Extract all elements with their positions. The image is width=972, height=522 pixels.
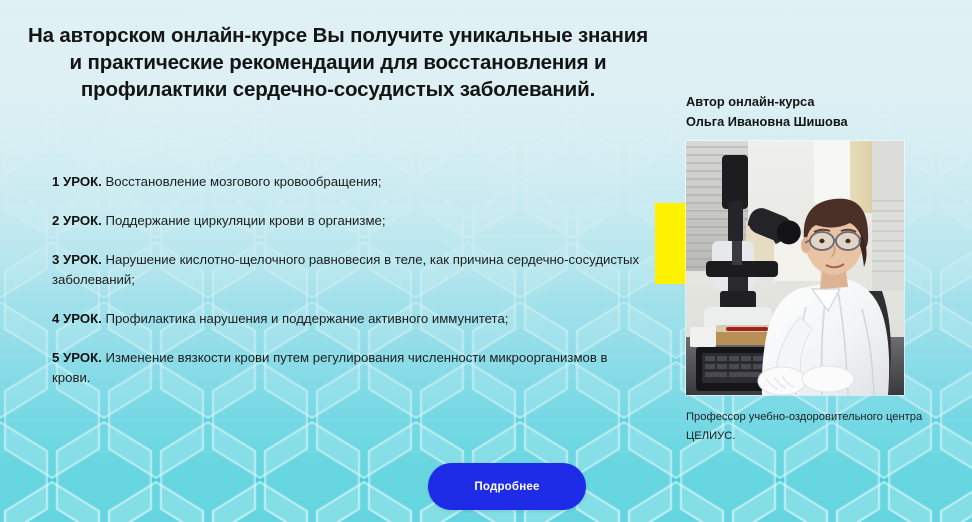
lesson-text: Изменение вязкости крови путем регулиров… [52, 350, 608, 385]
author-heading: Автор онлайн-курса Ольга Ивановна Шишова [686, 92, 946, 132]
lesson-text: Профилактика нарушения и поддержание акт… [102, 311, 509, 326]
lesson-number: 4 УРОК. [52, 311, 102, 326]
list-item: 5 УРОК. Изменение вязкости крови путем р… [52, 348, 642, 388]
list-item: 3 УРОК. Нарушение кислотно-щелочного рав… [52, 250, 642, 290]
list-item: 2 УРОК. Поддержание циркуляции крови в о… [52, 211, 642, 231]
list-item: 4 УРОК. Профилактика нарушения и поддерж… [52, 309, 642, 329]
author-name: Ольга Ивановна Шишова [686, 112, 946, 132]
lesson-text: Нарушение кислотно-щелочного равновесия … [52, 252, 639, 287]
lesson-number: 2 УРОК. [52, 213, 102, 228]
lesson-text: Поддержание циркуляции крови в организме… [102, 213, 386, 228]
lesson-list: 1 УРОК. Восстановление мозгового кровооб… [52, 172, 642, 388]
lesson-number: 1 УРОК. [52, 174, 102, 189]
details-button[interactable]: Подробнее [428, 463, 586, 510]
promo-banner: На авторском онлайн-курсе Вы получите ун… [0, 0, 972, 522]
author-photo [686, 141, 904, 395]
lesson-number: 5 УРОК. [52, 350, 102, 365]
yellow-accent-block [655, 203, 688, 284]
lesson-number: 3 УРОК. [52, 252, 102, 267]
author-role: Автор онлайн-курса [686, 92, 946, 112]
page-title: На авторском онлайн-курсе Вы получите ун… [22, 22, 654, 103]
lesson-text: Восстановление мозгового кровообращения; [102, 174, 382, 189]
list-item: 1 УРОК. Восстановление мозгового кровооб… [52, 172, 642, 192]
author-photo-caption: Профессор учебно-оздоровительного центра… [686, 408, 944, 446]
